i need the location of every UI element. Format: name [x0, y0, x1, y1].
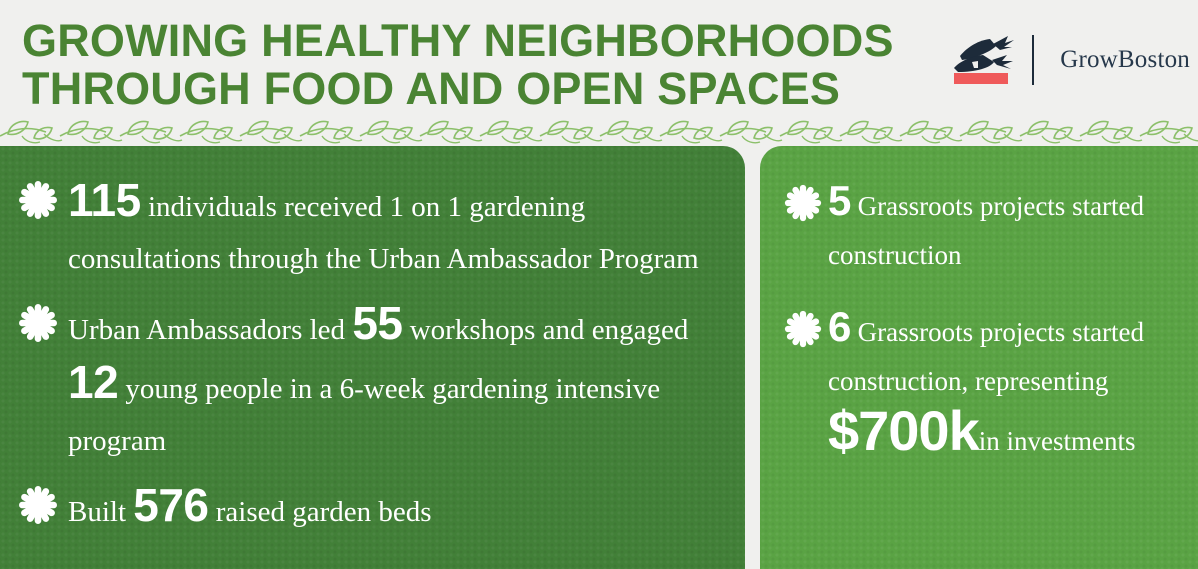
stat-label: workshops and engaged: [402, 314, 688, 346]
infographic-page: Growing Healthy Neighborhoods Through Fo…: [0, 0, 1198, 569]
stat-label: Urban Ambassadors led: [68, 314, 352, 346]
stat-text: Urban Ambassadors led 55 workshops and e…: [68, 297, 727, 467]
stat-number: 576: [133, 479, 208, 531]
stat-label: Grassroots projects started construction…: [828, 317, 1144, 396]
page-title: Growing Healthy Neighborhoods Through Fo…: [22, 17, 1002, 113]
stat-item: Built 576 raised garden beds: [16, 479, 727, 538]
logo-divider: [1032, 35, 1034, 85]
stat-item: Urban Ambassadors led 55 workshops and e…: [16, 297, 727, 467]
grow-boston-logo: GrowBoston: [950, 28, 1190, 92]
logo-wordmark: GrowBoston: [1060, 46, 1190, 74]
stats-panel-right: 5 Grassroots projects started constructi…: [760, 146, 1198, 569]
stat-text: Built 576 raised garden beds: [68, 479, 432, 538]
stat-label: Built: [68, 496, 133, 528]
stat-item: 5 Grassroots projects started constructi…: [782, 176, 1184, 280]
asterisk-flower-icon: [782, 182, 824, 224]
stat-number: 12: [68, 356, 118, 408]
logo-red-bar: [954, 73, 1008, 84]
page-title-line-1: Growing Healthy Neighborhoods: [22, 15, 894, 66]
stat-label: raised garden beds: [209, 496, 432, 528]
stat-item: 115 individuals received 1 on 1 gardenin…: [16, 174, 727, 285]
page-title-line-2: Through Food and Open Spaces: [22, 65, 1002, 113]
stats-panel-left: 115 individuals received 1 on 1 gardenin…: [0, 146, 745, 569]
stat-number: 6: [828, 303, 851, 350]
leaf-vine-border: [0, 114, 1198, 148]
asterisk-flower-icon: [16, 178, 60, 222]
stat-number: 55: [352, 297, 402, 349]
asterisk-flower-icon: [16, 483, 60, 527]
stat-label: young people in a 6-week gardening inten…: [68, 373, 660, 457]
stat-label: Grassroots projects started construction: [828, 191, 1144, 270]
stat-number: 5: [828, 177, 851, 224]
asterisk-flower-icon: [16, 301, 60, 345]
stat-label: in investments: [979, 426, 1136, 456]
stat-text: 6 Grassroots projects started constructi…: [828, 302, 1184, 466]
asterisk-flower-icon: [782, 308, 824, 350]
stat-number: 115: [68, 174, 141, 226]
stat-text: 115 individuals received 1 on 1 gardenin…: [68, 174, 727, 285]
stat-number-large: $700k: [828, 399, 979, 462]
stat-item: 6 Grassroots projects started constructi…: [782, 302, 1184, 466]
stat-text: 5 Grassroots projects started constructi…: [828, 176, 1184, 280]
carrots-logo-icon: [950, 34, 1016, 86]
stat-label: individuals received 1 on 1 gardening co…: [68, 191, 699, 275]
